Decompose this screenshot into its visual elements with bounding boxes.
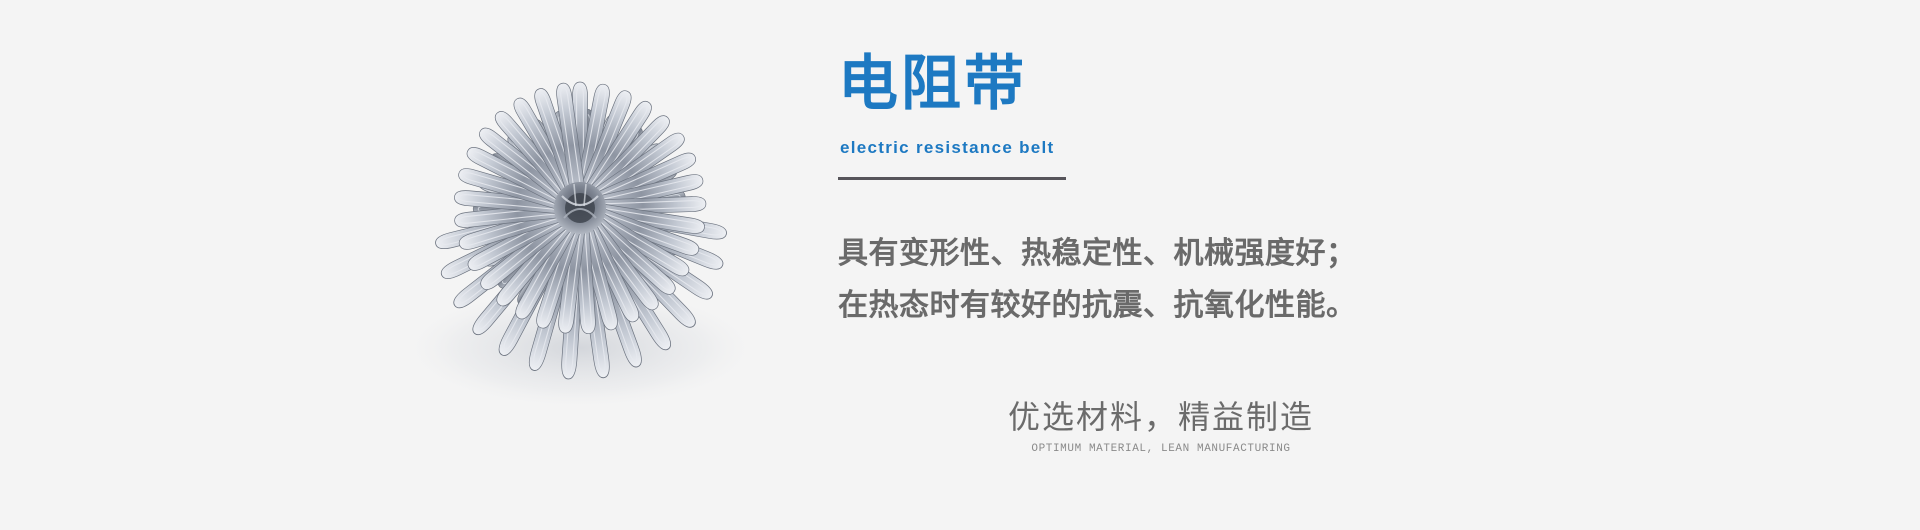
product-image	[360, 48, 800, 418]
product-description: 具有变形性、热稳定性、机械强度好； 在热态时有较好的抗震、抗氧化性能。	[838, 228, 1357, 332]
brand-tagline: 优选材料，精益制造 OPTIMUM MATERIAL, LEAN MANUFAC…	[946, 398, 1376, 455]
tagline-zh: 优选材料，精益制造	[946, 398, 1376, 436]
page-subtitle-en: electric resistance belt	[840, 138, 1055, 158]
description-line-2: 在热态时有较好的抗震、抗氧化性能。	[838, 280, 1357, 332]
banner-text-column: 电阻带 electric resistance belt 具有变形性、热稳定性、…	[838, 0, 1838, 530]
page-title: 电阻带	[838, 52, 1027, 115]
title-divider	[838, 177, 1066, 180]
product-banner: 电阻带 electric resistance belt 具有变形性、热稳定性、…	[0, 0, 1920, 530]
description-line-1: 具有变形性、热稳定性、机械强度好；	[838, 228, 1357, 280]
tagline-en: OPTIMUM MATERIAL, LEAN MANUFACTURING	[946, 443, 1376, 455]
